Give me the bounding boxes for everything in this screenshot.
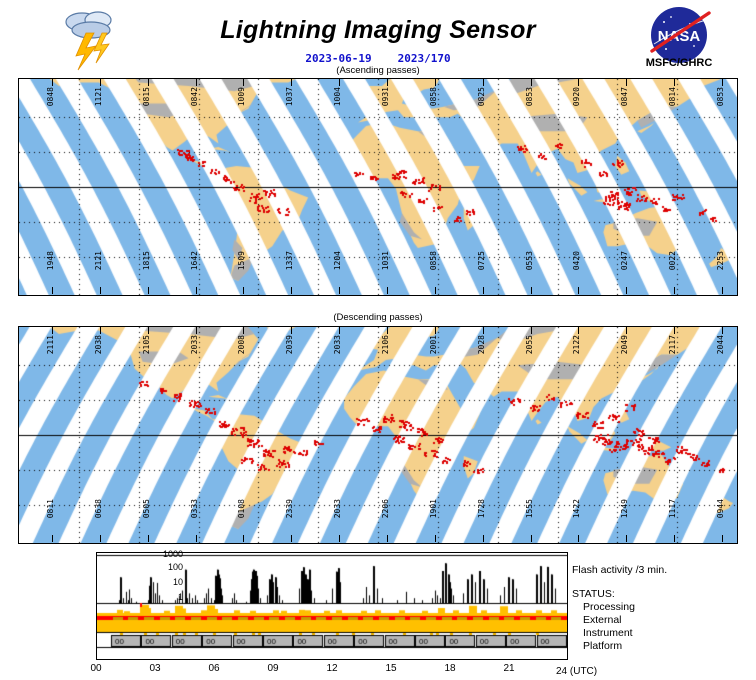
orbit-tick-bottom [626,535,627,542]
orbit-time-label-top: 0842 [191,87,199,106]
orbit-tick-top [148,327,149,334]
orbit-time-label-bottom: 0858 [430,251,438,270]
orbit-time-label-top: 0853 [526,87,534,106]
orbit-tick-top [387,79,388,86]
orbit-tick-bottom [291,287,292,294]
orbit-time-label-bottom: 2033 [334,499,342,518]
orbit-tick-bottom [387,287,388,294]
orbit-time-label-bottom: 1031 [382,251,390,270]
orbit-time-label-top: 0815 [143,87,151,106]
orbit-time-label-top: 2033 [191,335,199,354]
orbit-time-label-top: 2033 [334,335,342,354]
ascending-world-map[interactable] [18,78,738,296]
orbit-time-label-bottom: 0108 [238,499,246,518]
orbit-tick-bottom [339,287,340,294]
orbit-tick-bottom [52,287,53,294]
orbit-tick-top [531,79,532,86]
orbit-time-label-top: 2008 [238,335,246,354]
flash-activity-panel: 1000 100 10 1 00 03 06 09 12 15 18 21 24… [0,548,756,680]
orbit-time-label-bottom: 2339 [286,499,294,518]
orbit-tick-top [100,79,101,86]
orbit-time-label-top: 1009 [238,87,246,106]
x-tick-09: 09 [261,663,285,674]
orbit-time-label-top: 0920 [573,87,581,106]
orbit-tick-top [674,327,675,334]
orbit-tick-top [722,327,723,334]
orbit-time-label-top: 2106 [382,335,390,354]
orbit-tick-top [196,79,197,86]
legend-status-instrument: Instrument [572,627,752,640]
orbit-time-label-top: 2044 [717,335,725,354]
orbit-time-label-bottom: 0811 [47,499,55,518]
orbit-time-label-top: 2028 [478,335,486,354]
orbit-tick-bottom [722,535,723,542]
orbit-tick-top [626,79,627,86]
x-tick-12: 12 [320,663,344,674]
orbit-time-label-top: 2117 [669,335,677,354]
orbit-tick-bottom [100,535,101,542]
orbit-tick-bottom [243,535,244,542]
orbit-tick-top [243,79,244,86]
orbit-time-label-top: 0847 [621,87,629,106]
orbit-time-label-bottom: 1117 [669,499,677,518]
orbit-tick-bottom [674,287,675,294]
utc-axis-label: 24 (UTC) [556,666,597,677]
orbit-time-label-bottom: 0725 [478,251,486,270]
legend-status-platform: Platform [572,640,752,653]
orbit-time-label-top: 2122 [573,335,581,354]
y-tick-100: 100 [149,562,183,572]
orbit-time-label-top: 2039 [286,335,294,354]
orbit-tick-bottom [387,535,388,542]
orbit-time-label-top: 0814 [669,87,677,106]
x-tick-06: 06 [202,663,226,674]
orbit-tick-top [483,327,484,334]
orbit-tick-top [722,79,723,86]
orbit-tick-bottom [483,535,484,542]
descending-map-panel: 2111203821052033200820392033210620012028… [18,326,738,544]
orbit-time-label-bottom: 0553 [526,251,534,270]
orbit-time-label-bottom: 0944 [717,499,725,518]
orbit-time-label-top: 1121 [95,87,103,106]
orbit-time-label-bottom: 1642 [191,251,199,270]
orbit-tick-bottom [483,287,484,294]
legend-flash-activity: Flash activity /3 min. [572,564,752,577]
y-tick-1000: 1000 [149,549,183,559]
orbit-time-label-bottom: 1422 [573,499,581,518]
orbit-tick-top [387,327,388,334]
orbit-tick-bottom [100,287,101,294]
orbit-tick-top [339,79,340,86]
orbit-tick-top [100,327,101,334]
x-tick-15: 15 [379,663,403,674]
orbit-time-label-bottom: 0333 [191,499,199,518]
orbit-tick-top [52,327,53,334]
x-tick-00: 00 [84,663,108,674]
orbit-time-label-top: 2111 [47,335,55,354]
orbit-time-label-bottom: 0247 [621,251,629,270]
lightning-imaging-sensor-page: Lightning Imaging Sensor 2023-06-192023/… [0,0,756,680]
orbit-tick-bottom [435,535,436,542]
x-tick-03: 03 [143,663,167,674]
orbit-time-label-bottom: 0638 [95,499,103,518]
orbit-tick-bottom [52,535,53,542]
orbit-tick-top [626,327,627,334]
orbit-time-label-bottom: 0505 [143,499,151,518]
orbit-tick-bottom [626,287,627,294]
orbit-time-label-bottom: 1555 [526,499,534,518]
agency-label: MSFC/GHRC [624,57,734,69]
orbit-time-label-bottom: 1815 [143,251,151,270]
orbit-tick-bottom [291,535,292,542]
y-tick-10: 10 [149,577,183,587]
descending-world-map[interactable] [18,326,738,544]
legend-status-processing: Processing [572,601,752,614]
orbit-time-label-top: 0853 [717,87,725,106]
orbit-time-label-top: 2038 [95,335,103,354]
orbit-tick-bottom [243,287,244,294]
orbit-tick-top [196,327,197,334]
orbit-tick-top [52,79,53,86]
orbit-time-label-bottom: 1948 [47,251,55,270]
x-tick-18: 18 [438,663,462,674]
orbit-time-label-bottom: 0022 [669,251,677,270]
orbit-tick-bottom [148,287,149,294]
orbit-tick-bottom [578,287,579,294]
orbit-time-label-top: 2049 [621,335,629,354]
orbit-tick-bottom [674,535,675,542]
orbit-time-label-bottom: 1728 [478,499,486,518]
orbit-time-label-top: 1037 [286,87,294,106]
plot-legend: Flash activity /3 min. STATUS: Processin… [572,564,752,653]
orbit-time-label-top: 0848 [47,87,55,106]
orbit-time-label-bottom: 1901 [430,499,438,518]
orbit-time-label-bottom: 1204 [334,251,342,270]
descending-pass-caption: (Descending passes) [0,312,756,323]
orbit-tick-bottom [531,287,532,294]
orbit-tick-bottom [722,287,723,294]
orbit-time-label-top: 1004 [334,87,342,106]
legend-status-external: External [572,614,752,627]
orbit-time-label-bottom: 1509 [238,251,246,270]
x-tick-21: 21 [497,663,521,674]
day-of-year: 2023/170 [398,52,451,65]
orbit-time-label-top: 2105 [143,335,151,354]
orbit-tick-bottom [148,535,149,542]
orbit-tick-bottom [578,535,579,542]
orbit-time-label-bottom: 1249 [621,499,629,518]
orbit-tick-top [578,79,579,86]
page-header: Lightning Imaging Sensor 2023-06-192023/… [0,0,756,76]
orbit-tick-bottom [531,535,532,542]
orbit-tick-bottom [196,535,197,542]
orbit-tick-top [674,79,675,86]
orbit-tick-top [435,327,436,334]
legend-status-header: STATUS: [572,588,752,601]
orbit-time-label-bottom: 2253 [717,251,725,270]
orbit-time-label-top: 0931 [382,87,390,106]
observation-date: 2023-06-19 [305,52,371,65]
orbit-tick-bottom [196,287,197,294]
orbit-time-label-bottom: 1337 [286,251,294,270]
y-tick-1: 1 [149,592,183,602]
orbit-tick-top [483,79,484,86]
orbit-tick-top [243,327,244,334]
orbit-tick-bottom [339,535,340,542]
orbit-time-label-bottom: 2206 [382,499,390,518]
orbit-tick-top [291,327,292,334]
orbit-tick-top [435,79,436,86]
orbit-tick-top [578,327,579,334]
orbit-time-label-top: 0858 [430,87,438,106]
orbit-time-label-bottom: 2121 [95,251,103,270]
orbit-time-label-bottom: 0420 [573,251,581,270]
orbit-tick-top [148,79,149,86]
ascending-map-panel: 0848112108150842100910371004093108580825… [18,78,738,296]
orbit-time-label-top: 2001 [430,335,438,354]
orbit-tick-top [531,327,532,334]
orbit-time-label-top: 2055 [526,335,534,354]
orbit-time-label-top: 0825 [478,87,486,106]
orbit-tick-top [339,327,340,334]
orbit-tick-bottom [435,287,436,294]
orbit-tick-top [291,79,292,86]
